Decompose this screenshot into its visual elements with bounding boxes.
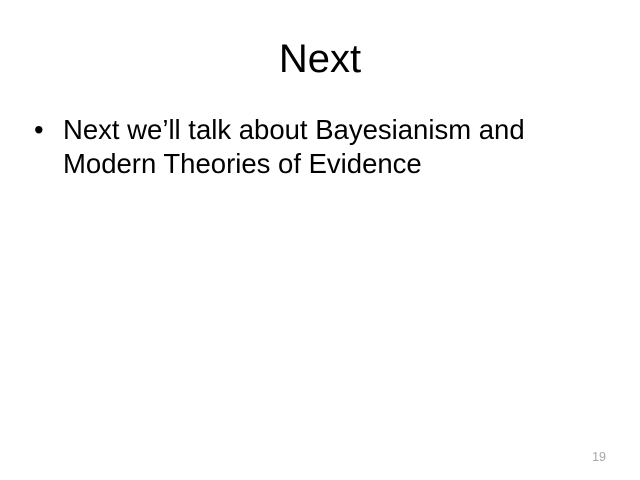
slide-canvas: Next • Next we’ll talk about Bayesianism…	[0, 0, 640, 480]
page-title: Next	[0, 36, 640, 82]
page-number: 19	[592, 450, 606, 464]
slide-body: • Next we’ll talk about Bayesianism and …	[28, 113, 612, 181]
list-item: • Next we’ll talk about Bayesianism and …	[28, 113, 612, 181]
bullet-dot-icon: •	[34, 113, 56, 147]
list-item-label: Next we’ll talk about Bayesianism and Mo…	[63, 113, 612, 181]
